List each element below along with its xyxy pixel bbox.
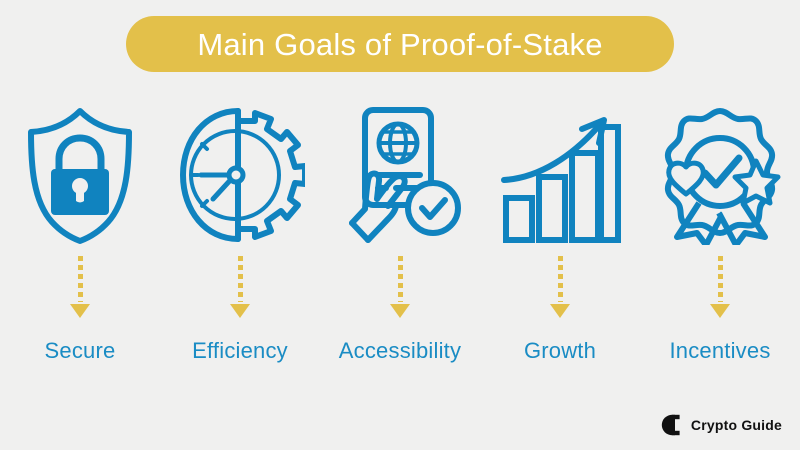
arrowhead-icon [390,304,410,318]
goal-column-accessibility: Accessibility [320,100,480,400]
goal-column-growth: Growth [480,100,640,400]
goal-label-growth: Growth [524,338,596,364]
brand-logo: Crypto Guide [661,414,782,436]
connector-arrow-incentives [713,250,727,330]
arrowhead-icon [70,304,90,318]
dotted-line [398,255,403,302]
shield-lock-icon [21,100,139,250]
clock-gear-icon [175,100,305,250]
goal-label-secure: Secure [45,338,116,364]
dotted-line [718,255,723,302]
dotted-line [78,255,83,302]
connector-arrow-growth [553,250,567,330]
dotted-line [558,255,563,302]
goals-row: Secure [0,100,800,400]
connector-arrow-secure [73,250,87,330]
crypto-guide-c-logo-icon [661,414,683,436]
hand-holding-globe-document-check-icon [338,100,463,250]
arrowhead-icon [550,304,570,318]
connector-arrow-accessibility [393,250,407,330]
dotted-line [238,255,243,302]
arrowhead-icon [230,304,250,318]
connector-arrow-efficiency [233,250,247,330]
infographic-root: Main Goals of Proof-of-Stake Secure [0,0,800,450]
arrowhead-icon [710,304,730,318]
goal-column-secure: Secure [0,100,160,400]
page-title: Main Goals of Proof-of-Stake [197,29,602,60]
goal-label-efficiency: Efficiency [192,338,288,364]
goal-column-incentives: Incentives [640,100,800,400]
title-banner: Main Goals of Proof-of-Stake [126,16,674,72]
goal-label-accessibility: Accessibility [339,338,461,364]
brand-name-label: Crypto Guide [691,417,782,433]
bar-chart-rising-arrow-icon [498,100,623,250]
award-ribbon-check-heart-star-icon [655,100,785,250]
goal-column-efficiency: Efficiency [160,100,320,400]
goal-label-incentives: Incentives [669,338,770,364]
